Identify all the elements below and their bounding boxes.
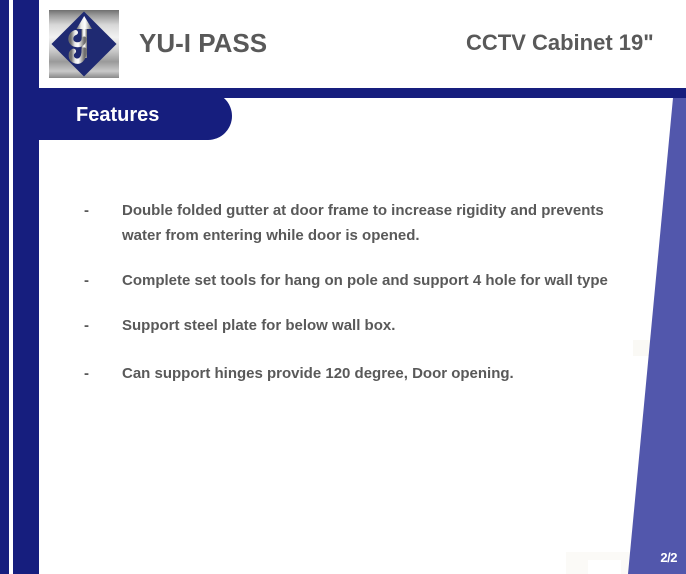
- left-accent-bar-thick: [13, 0, 39, 574]
- bullet-dash-icon: -: [84, 198, 122, 223]
- list-item-text: Can support hinges provide 120 degree, D…: [122, 361, 622, 386]
- bullet-dash-icon: -: [84, 361, 122, 386]
- slide-body: - Double folded gutter at door frame to …: [39, 140, 686, 574]
- watermark-cabinet-door-right: [637, 560, 659, 574]
- bullet-dash-icon: -: [84, 313, 122, 338]
- list-item-text: Double folded gutter at door frame to in…: [122, 198, 622, 248]
- list-item: - Double folded gutter at door frame to …: [84, 198, 644, 248]
- product-title: CCTV Cabinet 19": [466, 30, 654, 56]
- list-item: - Support steel plate for below wall box…: [84, 313, 644, 338]
- slide-header: YU-I PASS CCTV Cabinet 19": [39, 0, 686, 88]
- section-tab-features: Features: [39, 92, 232, 140]
- watermark-cabinet-door-left: [588, 560, 621, 574]
- slide-canvas: YU-I PASS CCTV Cabinet 19" Features - Do…: [0, 0, 686, 574]
- list-item-text: Support steel plate for below wall box.: [122, 313, 622, 338]
- section-tab-label: Features: [76, 104, 159, 127]
- page-number: 2/2: [660, 550, 677, 565]
- yu-i-pass-anchor-icon: [49, 10, 119, 78]
- list-item: - Complete set tools for hang on pole an…: [84, 268, 644, 293]
- brand-logo: [49, 10, 119, 78]
- features-list: - Double folded gutter at door frame to …: [84, 198, 644, 409]
- bullet-dash-icon: -: [84, 268, 122, 293]
- list-item: - Can support hinges provide 120 degree,…: [84, 361, 644, 386]
- brand-title: YU-I PASS: [139, 28, 267, 59]
- left-accent-bar-thin: [0, 0, 9, 574]
- list-item-text: Complete set tools for hang on pole and …: [122, 268, 644, 293]
